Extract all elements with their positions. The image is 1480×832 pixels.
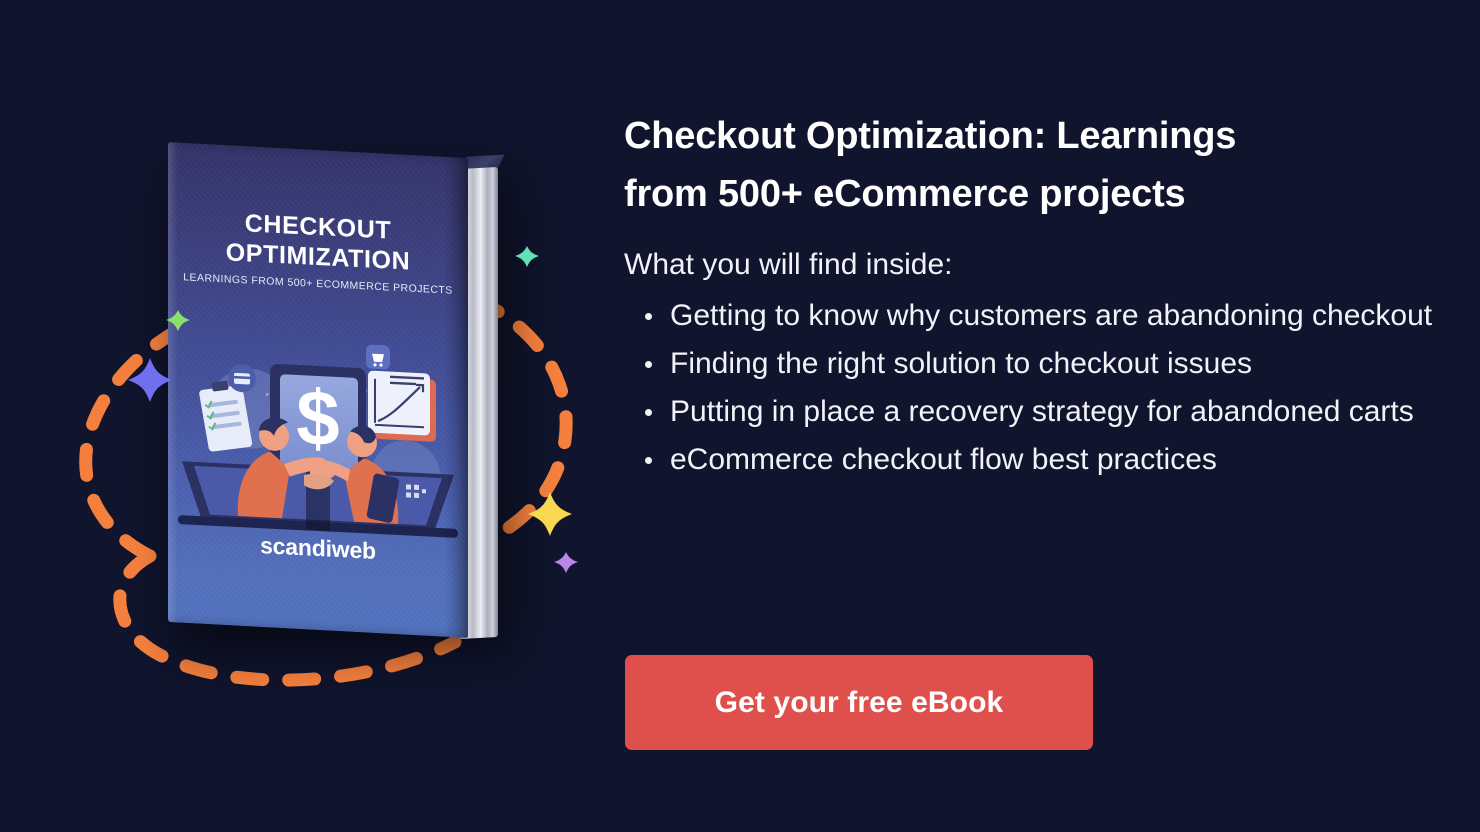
artwork-stage: CHECKOUT OPTIMIZATION LEARNINGS FROM 500… xyxy=(0,0,600,832)
lead-text: What you will find inside: xyxy=(624,245,952,285)
artwork-column: CHECKOUT OPTIMIZATION LEARNINGS FROM 500… xyxy=(0,0,600,832)
sparkle-decorations xyxy=(0,0,600,832)
page-title: Checkout Optimization: Learnings from 50… xyxy=(624,107,1324,223)
promo-text-column: Checkout Optimization: Learnings from 50… xyxy=(600,0,1480,832)
list-item: Getting to know why customers are abando… xyxy=(670,292,1460,340)
get-free-ebook-button[interactable]: Get your free eBook xyxy=(625,655,1093,750)
ebook-promo-banner: CHECKOUT OPTIMIZATION LEARNINGS FROM 500… xyxy=(0,0,1480,832)
list-item: eCommerce checkout flow best practices xyxy=(670,436,1460,484)
list-item: Finding the right solution to checkout i… xyxy=(670,340,1460,388)
benefits-list: Getting to know why customers are abando… xyxy=(624,292,1460,484)
list-item: Putting in place a recovery strategy for… xyxy=(670,388,1460,436)
